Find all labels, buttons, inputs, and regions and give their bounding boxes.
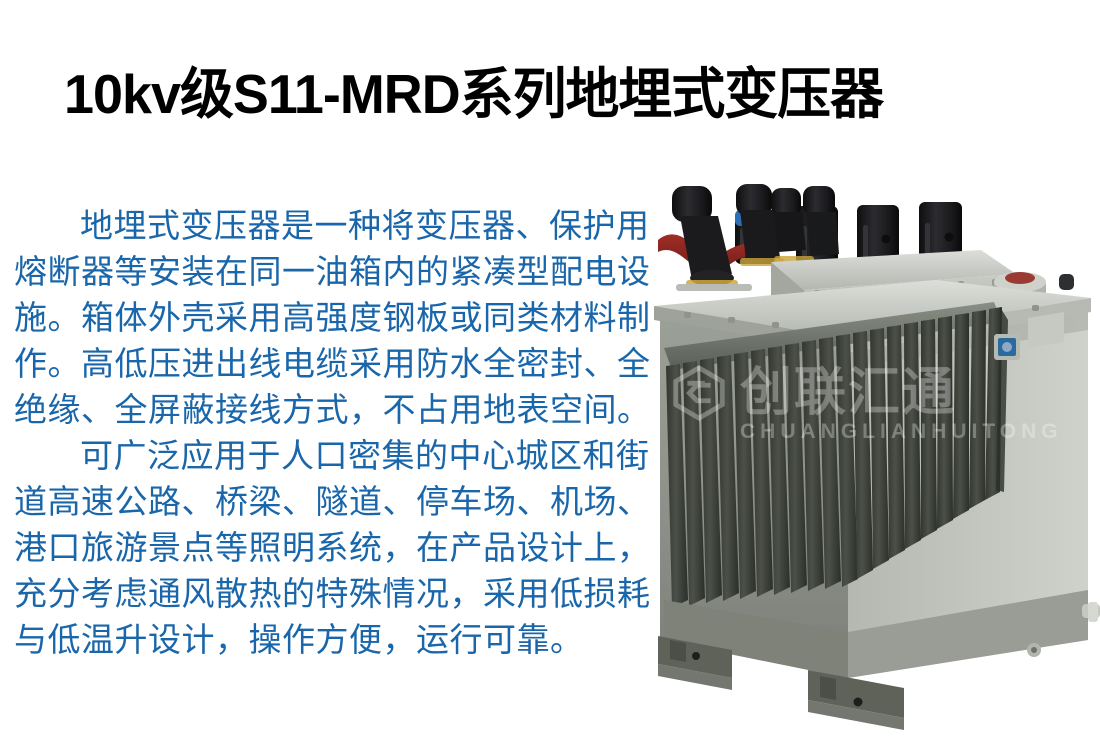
- vent-plug: [1059, 274, 1074, 290]
- paragraph-applications: 可广泛应用于人口密集的中心城区和街道高速公路、桥梁、隧道、停车场、机场、港口旅游…: [14, 433, 666, 663]
- radiator-fin: [921, 319, 937, 539]
- earth-bolt: [1027, 643, 1041, 657]
- transformer-illustration: [636, 170, 1100, 754]
- radiator-fin: [953, 313, 969, 519]
- description-text-block: 地埋式变压器是一种将变压器、保护用熔断器等安装在同一油箱内的紧凑型配电设施。箱体…: [14, 203, 666, 663]
- nameplate: [1028, 312, 1064, 348]
- radiator-fin: [937, 316, 953, 529]
- paragraph-definition: 地埋式变压器是一种将变压器、保护用熔断器等安装在同一油箱内的紧凑型配电设施。箱体…: [14, 203, 666, 433]
- lv-bushing: [857, 205, 899, 263]
- page-root: 10kv级S11-MRD系列地埋式变压器 地埋式变压器是一种将变压器、保护用熔断…: [0, 0, 1100, 754]
- page-title: 10kv级S11-MRD系列地埋式变压器: [64, 58, 1005, 130]
- radiator-fin: [904, 322, 921, 549]
- product-photo: [636, 170, 1100, 754]
- skid-base-channel: [808, 670, 904, 730]
- side-gauge: [994, 334, 1020, 360]
